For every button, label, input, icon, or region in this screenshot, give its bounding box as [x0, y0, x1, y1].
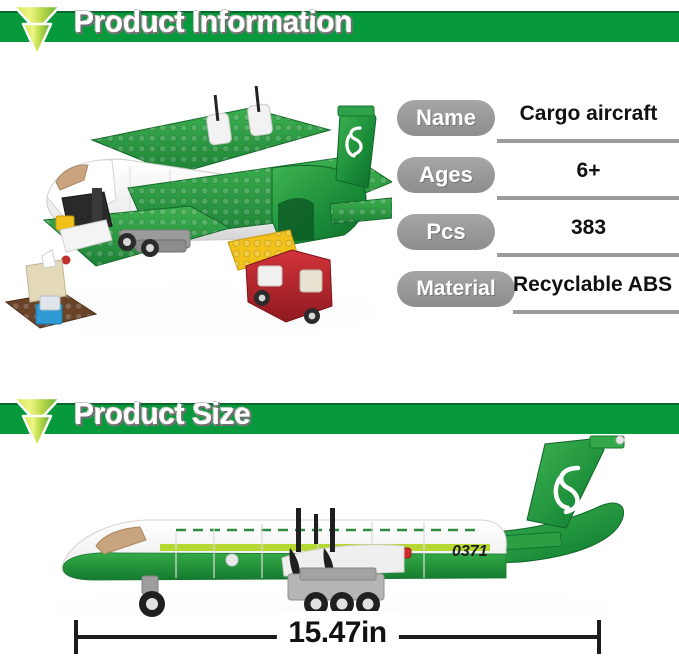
- dimension-label: 15.47in: [276, 611, 398, 655]
- product-infographic-page: Product Information: [0, 0, 679, 658]
- spec-row-material: Material Recyclable ABS: [397, 265, 679, 322]
- section-banner-product-information: Product Information: [0, 0, 679, 60]
- spec-row-ages: Ages 6+: [397, 151, 679, 208]
- product-photo-top: 0371: [0, 70, 392, 345]
- spec-value-name: Cargo aircraft: [502, 102, 675, 126]
- spec-value-pcs: 383: [502, 216, 675, 240]
- spec-label-material: Material: [397, 271, 515, 307]
- spec-underline: [513, 310, 679, 314]
- spec-row-pcs: Pcs 383: [397, 208, 679, 265]
- spec-value-material: Recyclable ABS: [513, 273, 672, 297]
- spec-underline: [497, 139, 679, 143]
- down-arrow-icon: [10, 2, 64, 58]
- spec-label-pcs: Pcs: [397, 214, 495, 250]
- dimension-cap-left: [74, 620, 78, 654]
- spec-row-name: Name Cargo aircraft: [397, 94, 679, 151]
- dimension-cap-right: [597, 620, 601, 654]
- dimension-measurement: 15.47in: [74, 615, 601, 658]
- spec-table: Name Cargo aircraft Ages 6+ Pcs 383 Mate…: [397, 94, 679, 322]
- spec-underline: [497, 196, 679, 200]
- forklift: [56, 188, 112, 252]
- spec-underline: [497, 253, 679, 257]
- spec-label-name: Name: [397, 100, 495, 136]
- product-photo-bottom: 0371: [0, 428, 679, 618]
- section-title: Product Information: [74, 0, 352, 44]
- spec-value-ages: 6+: [502, 159, 675, 183]
- fuselage-marking-bottom: 0371: [452, 543, 488, 560]
- spec-label-ages: Ages: [397, 157, 495, 193]
